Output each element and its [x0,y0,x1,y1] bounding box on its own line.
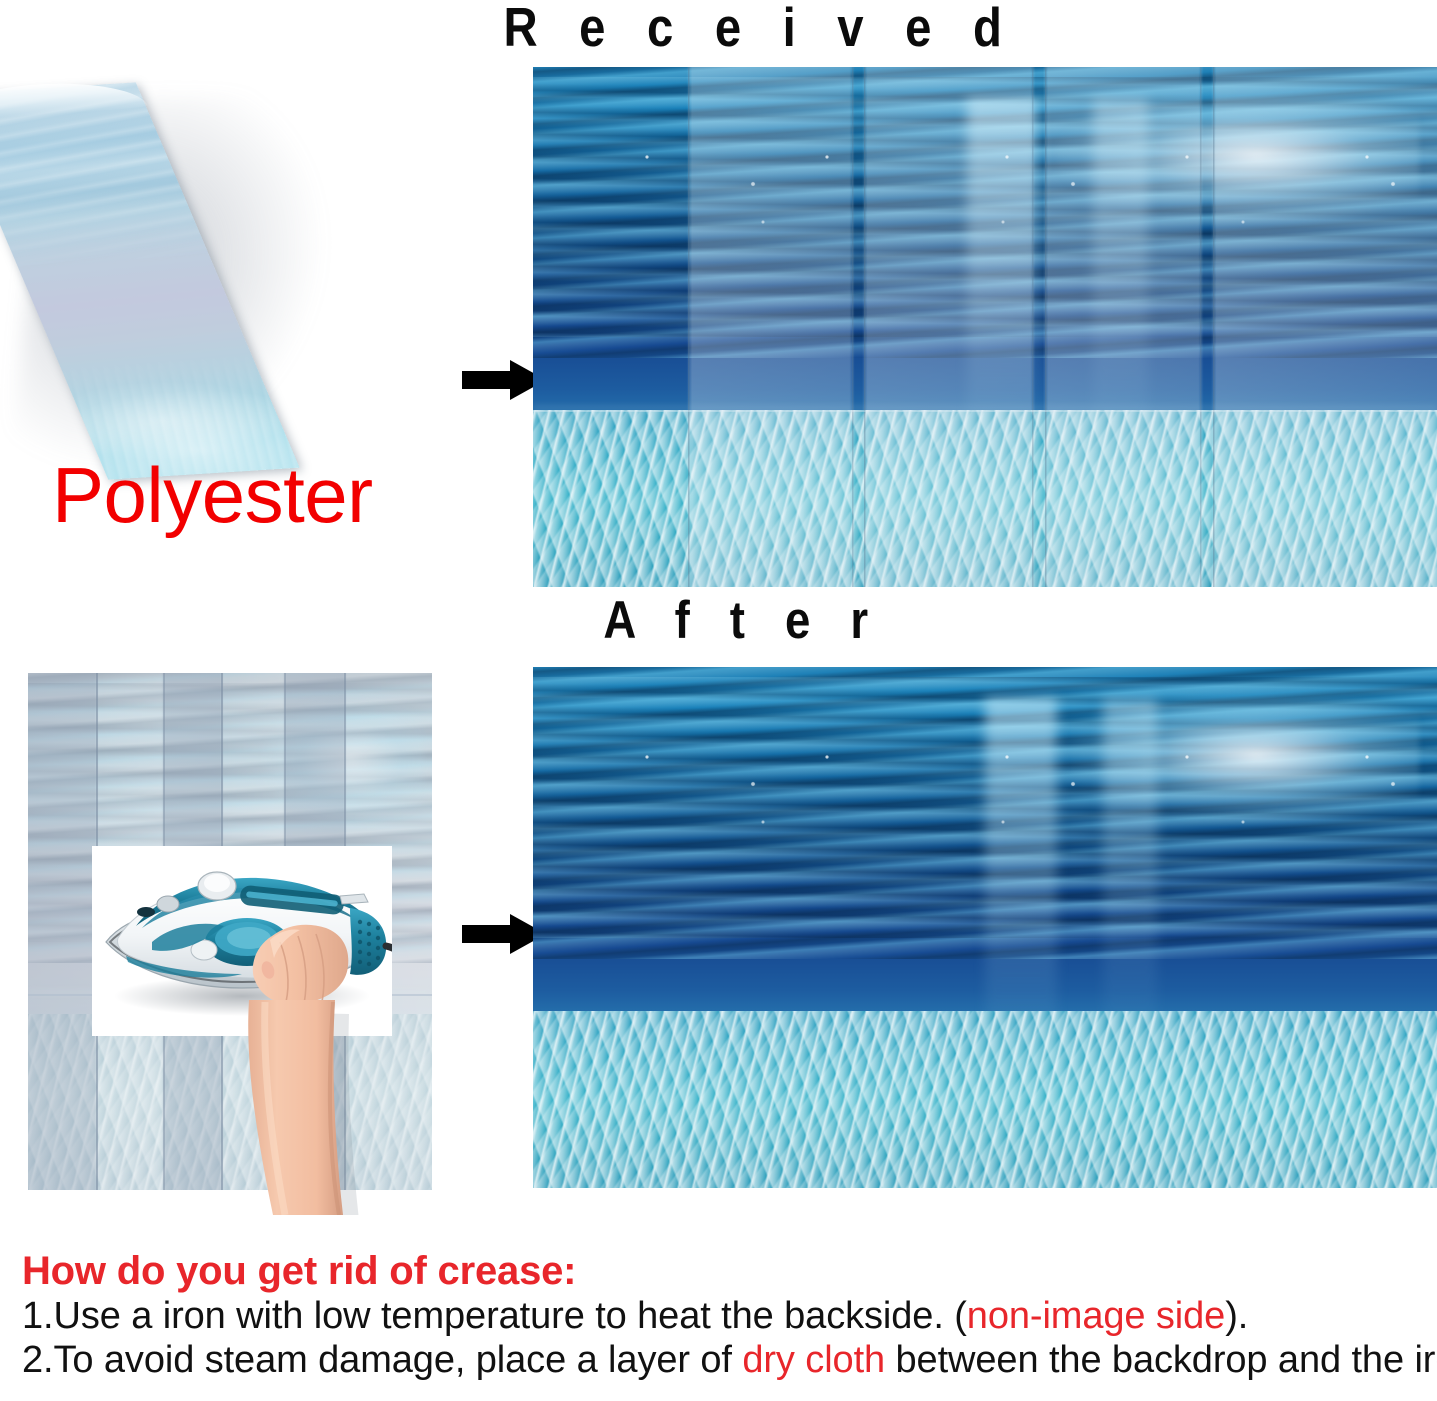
steam-iron-inset [92,846,392,1036]
care-line-1-number: 1. [22,1295,54,1337]
care-line-1-highlight: non-image side [967,1295,1225,1337]
material-label-polyester: Polyester [52,455,373,535]
care-line-1-part-3: ). [1225,1295,1248,1337]
horizontal-fold-line [533,410,1437,412]
care-instructions-heading: How do you get rid of crease: [22,1248,1422,1294]
polyester-fabric-swatch [8,82,428,497]
care-line-2-number: 2. [22,1339,54,1381]
after-section-title: A f t e r [101,593,1337,649]
floor-caustics-fine [533,1011,1437,1188]
sandy-floor [533,1011,1437,1188]
received-section-title: R e c e i v e d [101,0,1337,56]
bubbles [533,667,1437,875]
care-line-1-part-1: Use a iron with low temperature to heat … [54,1295,967,1337]
care-line-2-part-1: To avoid steam damage, place a layer of [54,1339,743,1381]
care-instruction-line-1: 1.Use a iron with low temperature to hea… [22,1294,1422,1338]
care-instruction-line-2: 2.To avoid steam damage, place a layer o… [22,1338,1422,1382]
care-line-2-highlight: dry cloth [742,1339,885,1381]
care-instructions: How do you get rid of crease: 1.Use a ir… [22,1248,1422,1382]
after-backdrop-photo [533,667,1437,1188]
steam-iron-icon [92,846,392,1036]
crease-fold-lines [533,67,1437,587]
care-line-2-part-3: between the backdrop and the iron. [885,1339,1437,1381]
received-backdrop-photo [533,67,1437,587]
